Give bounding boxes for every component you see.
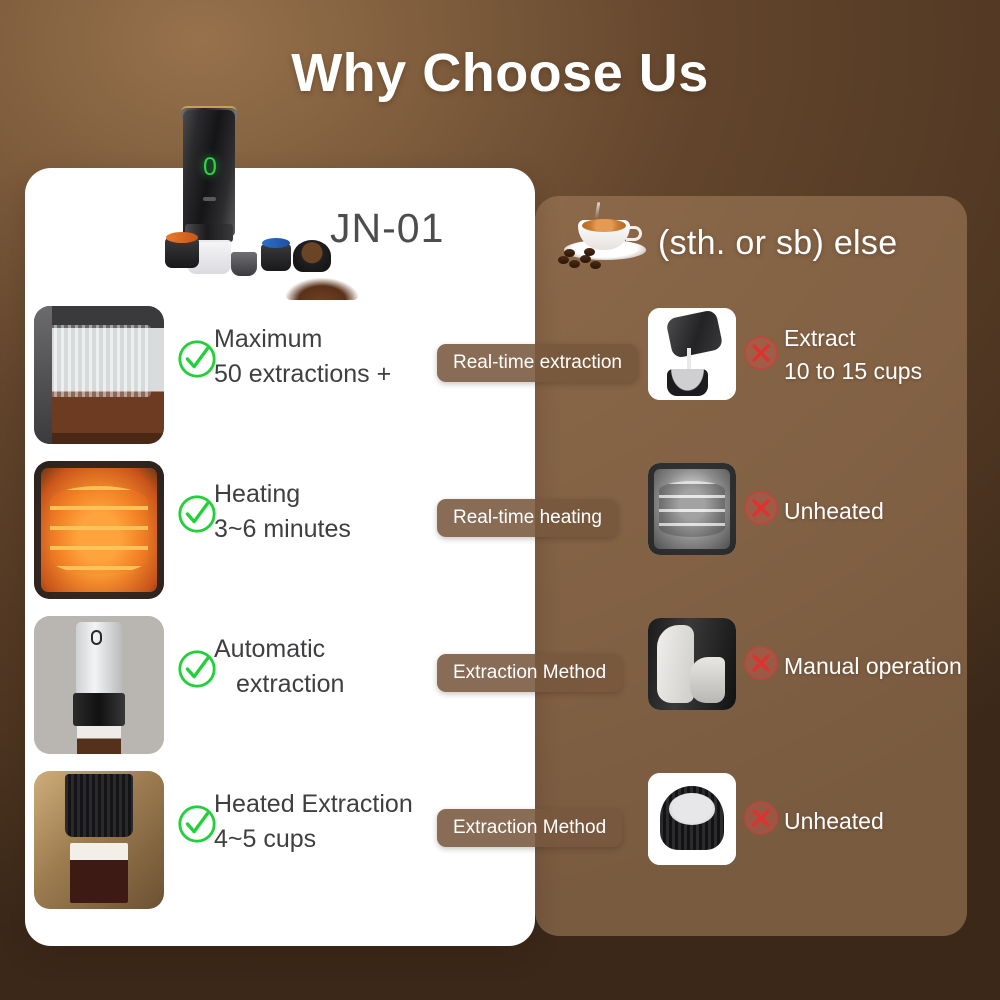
right-feature-text: Unheated bbox=[784, 805, 999, 838]
feature-line-1: Heating bbox=[214, 477, 454, 512]
right-thumbnail-thermos bbox=[648, 308, 736, 400]
right-column-title: (sth. or sb) else bbox=[658, 224, 897, 263]
feature-line-1: Unheated bbox=[784, 495, 999, 528]
left-thumbnail-water-tank bbox=[34, 306, 164, 444]
infographic-canvas: Why Choose Us 0 JN-01 (sth. or sb) else bbox=[0, 0, 1000, 1000]
right-thumbnail-hand bbox=[648, 618, 736, 710]
feature-line-1: Heated Extraction bbox=[214, 787, 454, 822]
coffee-cup-icon bbox=[556, 200, 658, 272]
green-check-icon bbox=[176, 803, 218, 845]
green-check-icon bbox=[176, 338, 218, 380]
feature-line-1: Automatic bbox=[214, 632, 454, 667]
pod-blue bbox=[261, 244, 291, 271]
coffee-grounds-pile bbox=[285, 278, 359, 300]
green-check-icon bbox=[176, 493, 218, 535]
red-cross-icon bbox=[744, 336, 778, 370]
machine-display-value: 0 bbox=[199, 152, 221, 182]
comparison-row: Maximum 50 extractions + Real-time extra… bbox=[0, 300, 1000, 455]
machine-button bbox=[203, 197, 216, 201]
coffee-beans-group bbox=[556, 248, 608, 270]
right-thumbnail-filter-basket bbox=[648, 773, 736, 865]
left-thumbnail-heating bbox=[34, 461, 164, 599]
feature-line-2: 10 to 15 cups bbox=[784, 355, 999, 388]
feature-line-1: Extract bbox=[784, 322, 999, 355]
category-pill: Real-time heating bbox=[437, 499, 618, 537]
left-thumbnail-extraction bbox=[34, 771, 164, 909]
feature-line-1: Unheated bbox=[784, 805, 999, 838]
red-cross-icon bbox=[744, 646, 778, 680]
comparison-row: Heating 3~6 minutes Real-time heating Un… bbox=[0, 455, 1000, 610]
red-cross-icon bbox=[744, 801, 778, 835]
feature-line-2: 50 extractions + bbox=[214, 357, 454, 392]
coffee-machine-image: 0 bbox=[165, 104, 251, 279]
right-thumbnail-unheated bbox=[648, 463, 736, 555]
pod-orange bbox=[165, 238, 199, 268]
left-feature-text: Heating 3~6 minutes bbox=[214, 477, 454, 547]
left-thumbnail-silver-machine bbox=[34, 616, 164, 754]
right-feature-text: Manual operation bbox=[784, 650, 999, 683]
pod-open-grounds bbox=[293, 240, 331, 272]
coffee-pods-group bbox=[165, 226, 345, 288]
category-pill: Real-time extraction bbox=[437, 344, 638, 382]
red-cross-icon bbox=[744, 491, 778, 525]
left-feature-text: Heated Extraction 4~5 cups bbox=[214, 787, 454, 857]
left-feature-text: Automatic extraction bbox=[214, 632, 454, 702]
comparison-row: Automatic extraction Extraction Method M… bbox=[0, 610, 1000, 765]
feature-line-1: Maximum bbox=[214, 322, 454, 357]
category-pill: Extraction Method bbox=[437, 654, 622, 692]
feature-line-2: 4~5 cups bbox=[214, 822, 454, 857]
pod-silver bbox=[231, 252, 257, 276]
crema-shape bbox=[582, 219, 626, 232]
feature-line-2: 3~6 minutes bbox=[214, 512, 454, 547]
comparison-row: Heated Extraction 4~5 cups Extraction Me… bbox=[0, 765, 1000, 920]
green-check-icon bbox=[176, 648, 218, 690]
category-pill: Extraction Method bbox=[437, 809, 622, 847]
page-title: Why Choose Us bbox=[0, 42, 1000, 104]
brand-model-label: JN-01 bbox=[330, 205, 444, 252]
feature-line-2: extraction bbox=[214, 667, 454, 702]
right-feature-text: Extract 10 to 15 cups bbox=[784, 322, 999, 388]
feature-line-1: Manual operation bbox=[784, 650, 999, 683]
right-feature-text: Unheated bbox=[784, 495, 999, 528]
left-feature-text: Maximum 50 extractions + bbox=[214, 322, 454, 392]
steam-icon bbox=[595, 202, 601, 219]
